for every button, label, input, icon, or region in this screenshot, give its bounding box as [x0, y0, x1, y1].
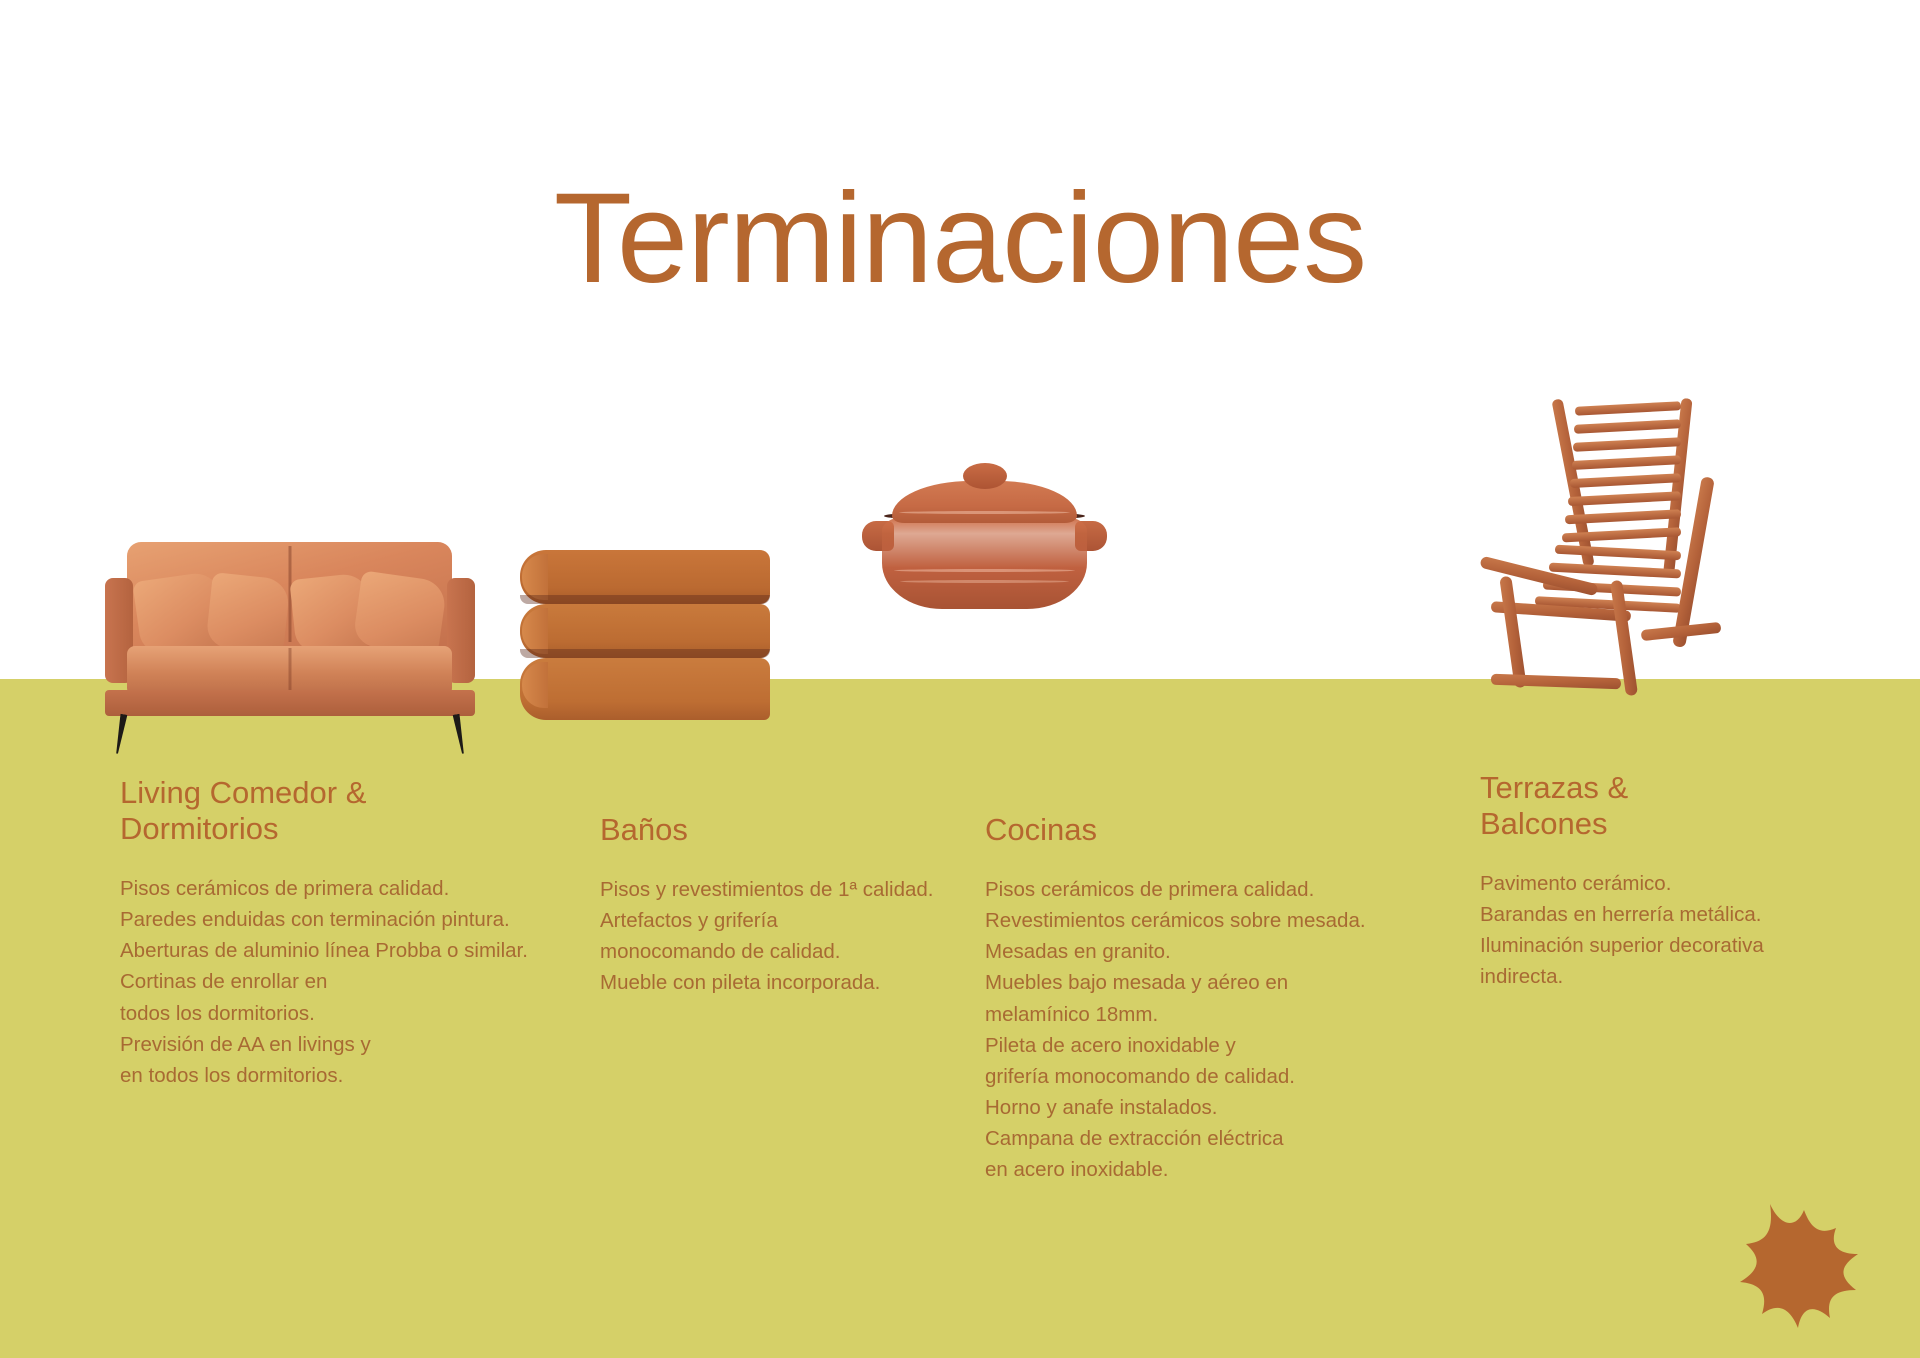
- column-body-text: Pisos cerámicos de primera calidad. Reve…: [985, 874, 1415, 1186]
- column-body-text: Pisos cerámicos de primera calidad. Pare…: [120, 873, 570, 1091]
- towel: [520, 658, 770, 720]
- slide-root: Terminaciones: [0, 0, 1920, 1358]
- towel-fold: [522, 554, 548, 600]
- deck-chair-image: [1455, 380, 1735, 700]
- towel: [520, 550, 770, 604]
- sofa-seat: [127, 646, 452, 696]
- column-terrazas-balcones: Terrazas & Balcones Pavimento cerámico. …: [1480, 770, 1880, 993]
- column-heading: Cocinas: [985, 812, 1415, 848]
- sofa-base: [105, 690, 475, 716]
- column-body-text: Pisos y revestimientos de 1ª calidad. Ar…: [600, 874, 980, 999]
- pot-lid-knob: [963, 463, 1007, 489]
- product-image-row: [0, 430, 1920, 760]
- sofa-leg: [114, 714, 128, 755]
- towels-image: [520, 548, 770, 743]
- sofa-leg: [453, 714, 467, 755]
- column-banos: Baños Pisos y revestimientos de 1ª calid…: [600, 812, 980, 999]
- column-living-comedor: Living Comedor & Dormitorios Pisos cerám…: [120, 775, 570, 1091]
- towel-fold: [522, 608, 548, 654]
- column-heading: Living Comedor & Dormitorios: [120, 775, 570, 847]
- column-heading: Terrazas & Balcones: [1480, 770, 1880, 842]
- page-title: Terminaciones: [0, 175, 1920, 303]
- clay-pot-image: [862, 455, 1107, 630]
- starburst-decoration-icon: [1718, 1196, 1888, 1341]
- sofa-image: [75, 520, 505, 740]
- towel-fold: [522, 662, 548, 708]
- towel-band: [520, 595, 770, 604]
- sofa-cushion: [352, 570, 447, 655]
- column-heading: Baños: [600, 812, 980, 848]
- towel: [520, 604, 770, 658]
- towel-band: [520, 649, 770, 658]
- column-cocinas: Cocinas Pisos cerámicos de primera calid…: [985, 812, 1415, 1186]
- sofa-cushion: [205, 572, 290, 654]
- column-body-text: Pavimento cerámico. Barandas en herrería…: [1480, 868, 1880, 993]
- pot-body: [882, 517, 1087, 609]
